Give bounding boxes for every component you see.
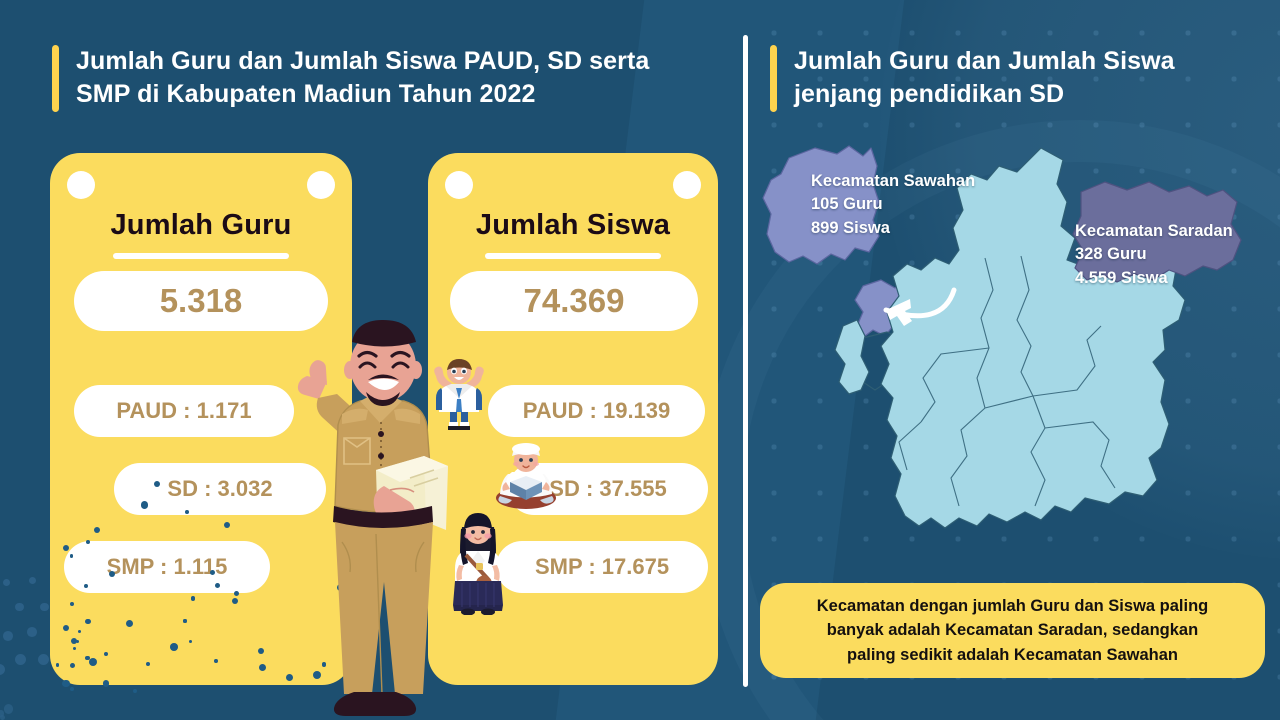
map-label-saradan-siswa: 4.559 Siswa	[1075, 267, 1233, 290]
left-page-title: Jumlah Guru dan Jumlah Siswa PAUD, SD se…	[76, 45, 649, 112]
map-label-saradan-guru: 328 Guru	[1075, 243, 1233, 266]
card-siswa-smp: SMP : 17.675	[496, 541, 708, 593]
title-accent-bar	[52, 45, 59, 112]
right-title-block: Jumlah Guru dan Jumlah Siswa jenjang pen…	[770, 45, 1240, 112]
sd-student-illustration	[490, 440, 562, 510]
summary-note-line-1: Kecamatan dengan jumlah Guru dan Siswa p…	[817, 594, 1209, 618]
summary-note-line-2: banyak adalah Kecamatan Saradan, sedangk…	[817, 618, 1209, 642]
punch-hole-right-icon	[673, 171, 701, 199]
right-panel: Jumlah Guru dan Jumlah Siswa jenjang pen…	[745, 0, 1280, 720]
card-siswa-rule	[485, 253, 661, 259]
summary-note-box: Kecamatan dengan jumlah Guru dan Siswa p…	[760, 583, 1265, 678]
map-label-sawahan-guru: 105 Guru	[811, 193, 975, 216]
right-title-line-1: Jumlah Guru dan Jumlah Siswa	[794, 45, 1175, 78]
right-page-title: Jumlah Guru dan Jumlah Siswa jenjang pen…	[794, 45, 1175, 112]
title-accent-bar	[770, 45, 777, 112]
card-guru-rule	[113, 253, 289, 259]
left-title-block: Jumlah Guru dan Jumlah Siswa PAUD, SD se…	[52, 45, 712, 112]
punch-hole-right-icon	[307, 171, 335, 199]
card-siswa-heading: Jumlah Siswa	[428, 209, 718, 242]
map-label-saradan: Kecamatan Saradan 328 Guru 4.559 Siswa	[1075, 220, 1233, 290]
map-label-sawahan-name: Kecamatan Sawahan	[811, 170, 975, 193]
punch-hole-left-icon	[445, 171, 473, 199]
map-label-sawahan-siswa: 899 Siswa	[811, 217, 975, 240]
smp-student-illustration	[448, 505, 508, 615]
card-guru-smp: SMP : 1.115	[64, 541, 270, 593]
left-panel: Jumlah Guru dan Jumlah Siswa PAUD, SD se…	[0, 0, 745, 720]
card-siswa-paud: PAUD : 19.139	[488, 385, 705, 437]
map-label-sawahan: Kecamatan Sawahan 105 Guru 899 Siswa	[811, 170, 975, 240]
card-guru-paud: PAUD : 1.171	[74, 385, 294, 437]
punch-hole-left-icon	[67, 171, 95, 199]
right-title-line-2: jenjang pendidikan SD	[794, 78, 1175, 111]
left-title-line-2: SMP di Kabupaten Madiun Tahun 2022	[76, 78, 649, 111]
left-title-line-1: Jumlah Guru dan Jumlah Siswa PAUD, SD se…	[76, 45, 649, 78]
summary-note-line-3: paling sedikit adalah Kecamatan Sawahan	[817, 643, 1209, 667]
paud-student-illustration	[428, 358, 490, 430]
map-label-saradan-name: Kecamatan Saradan	[1075, 220, 1233, 243]
card-siswa-total: 74.369	[450, 271, 698, 331]
summary-note-text: Kecamatan dengan jumlah Guru dan Siswa p…	[817, 594, 1209, 666]
card-guru-heading: Jumlah Guru	[50, 209, 352, 242]
